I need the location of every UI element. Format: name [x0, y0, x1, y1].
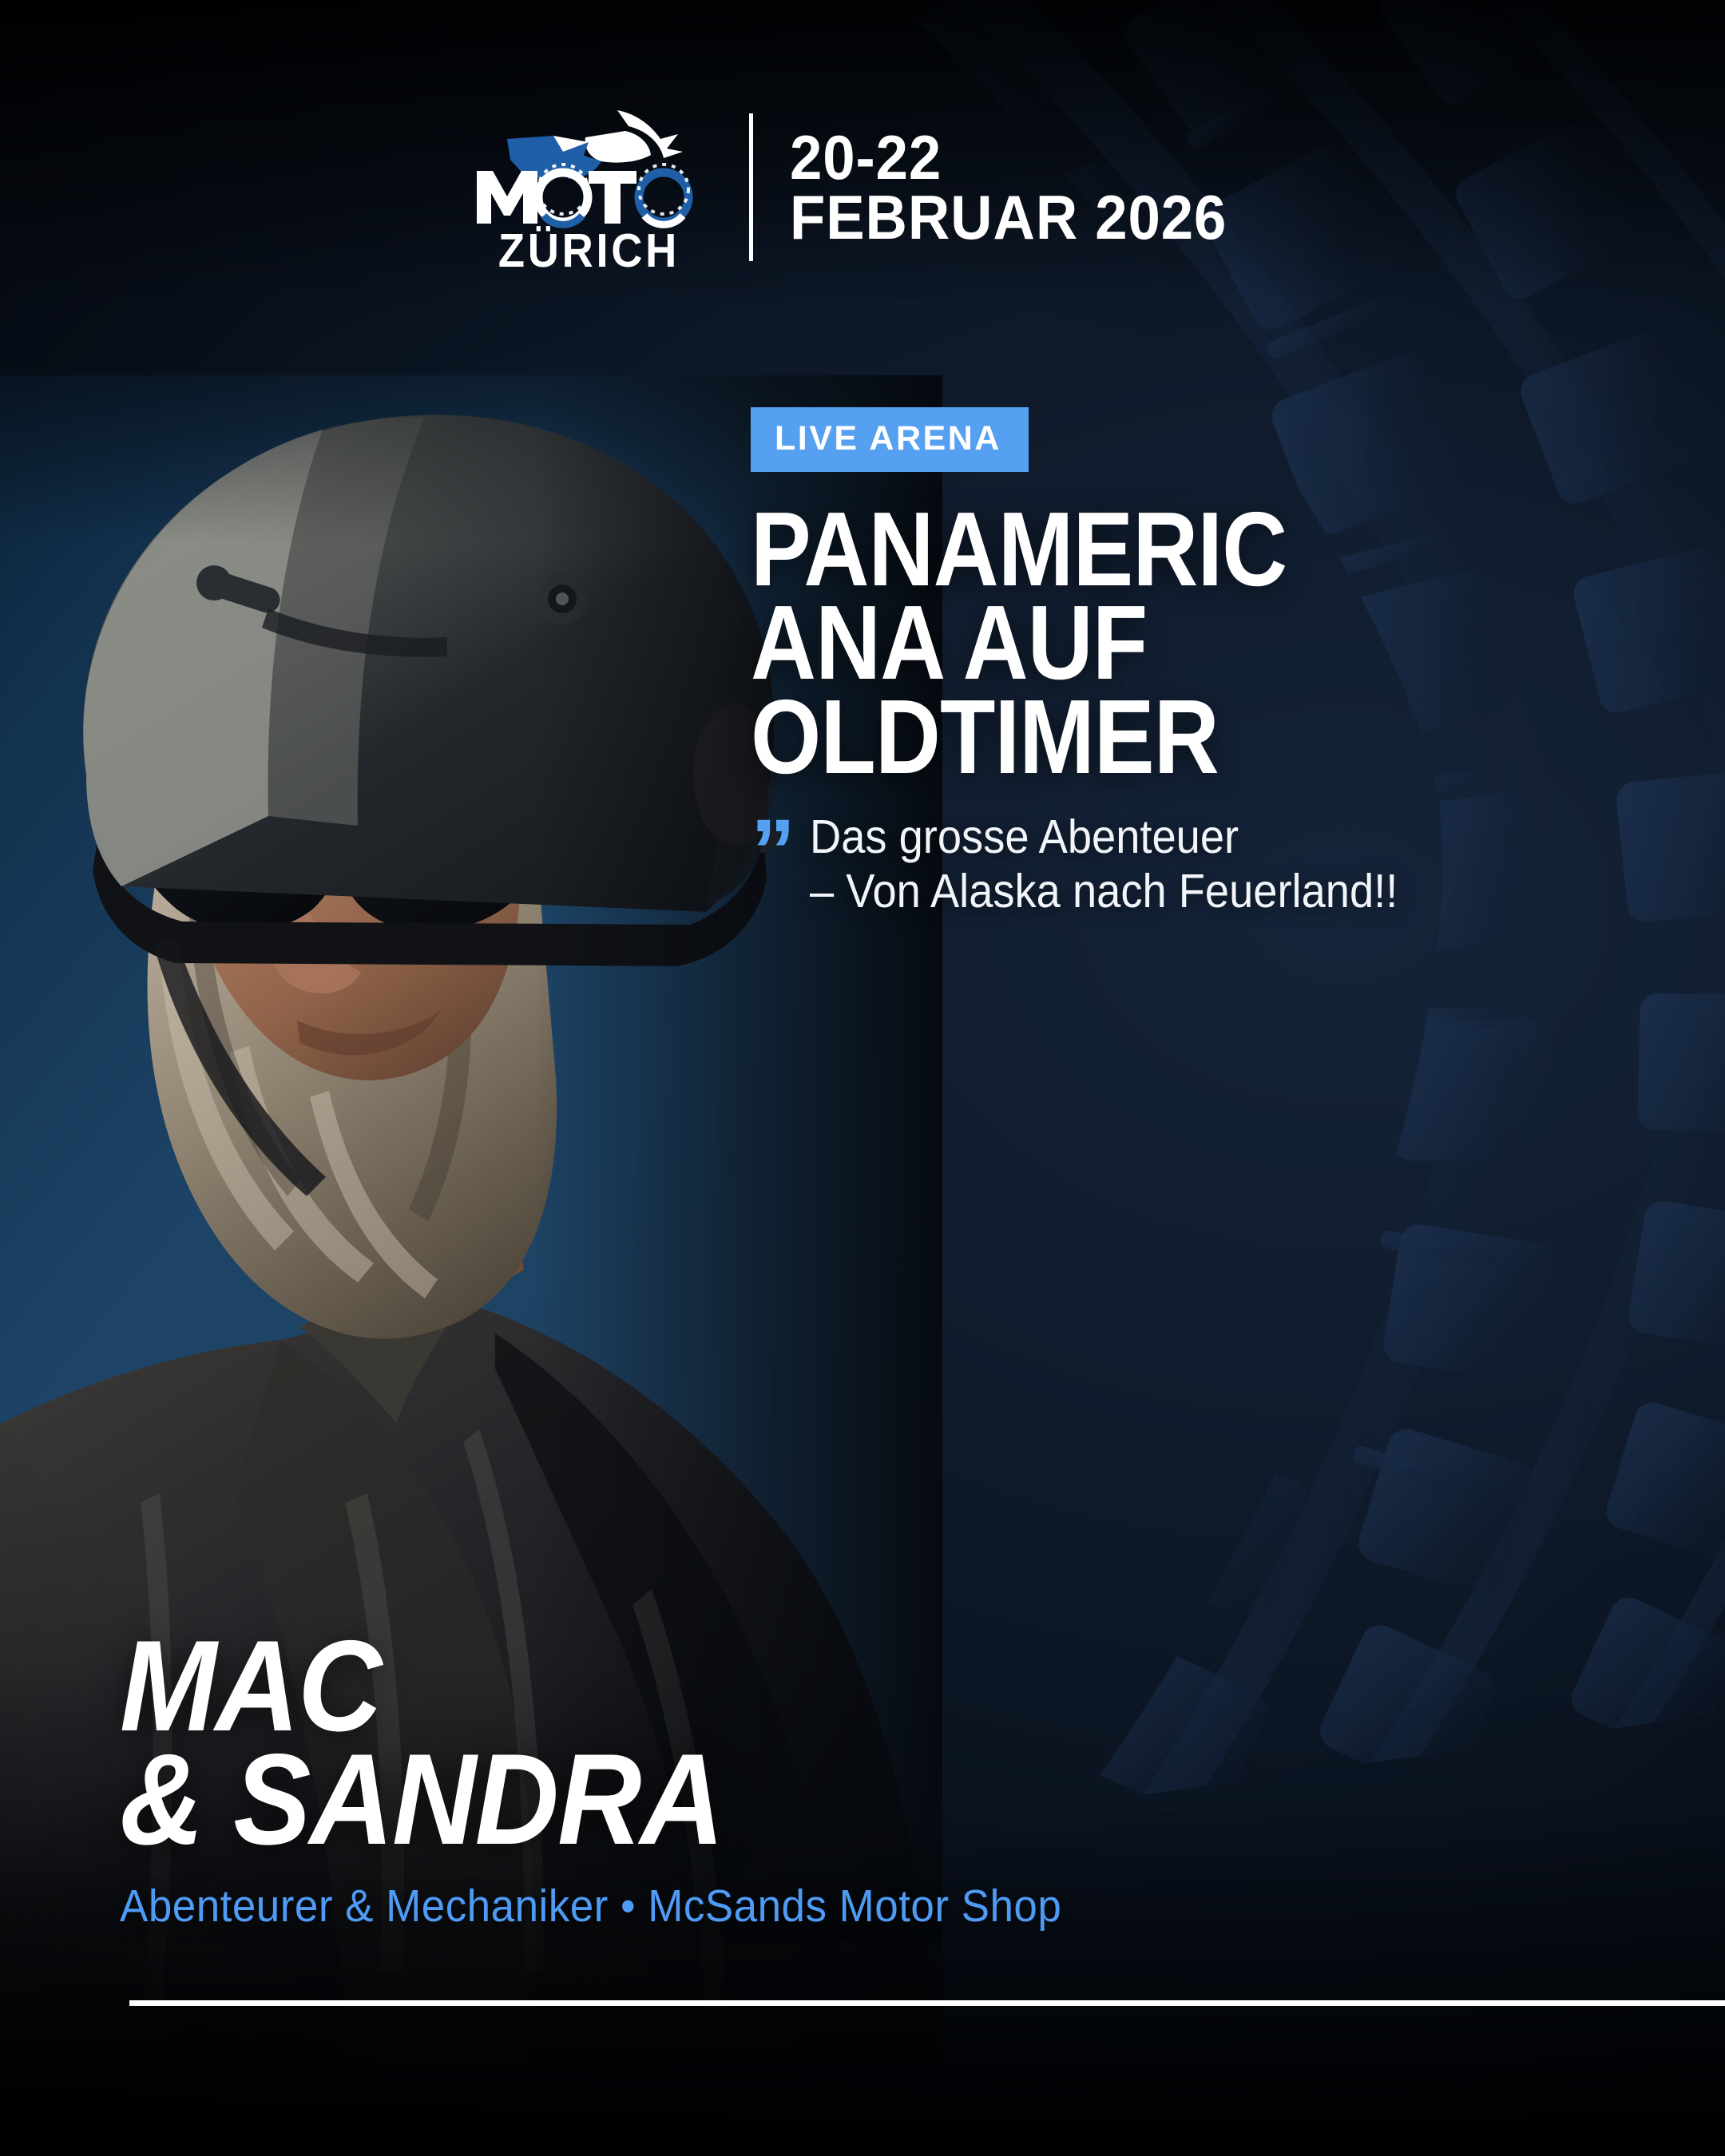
event-date-days: 20-22 [790, 128, 1227, 188]
logo-city-label: ZÜRICH [498, 229, 680, 272]
session-subtitle-group: ” Das grosse Abenteuer – Von Alaska nach… [751, 810, 1637, 918]
page-title: PANAMERIC ANA AUF OLDTIMER [751, 502, 1513, 783]
session-content: LIVE ARENA PANAMERIC ANA AUF OLDTIMER ” … [751, 407, 1637, 918]
header-divider [749, 113, 753, 261]
bottom-divider [129, 2000, 1725, 2006]
event-poster: ZÜRICH 20-22 FEBRUAR 2026 LIVE ARENA PAN… [0, 0, 1725, 2156]
speaker-name: MAC & SANDRA [120, 1630, 1342, 1857]
session-subtitle: Das grosse Abenteuer – Von Alaska nach F… [810, 810, 1398, 918]
speaker-role: Abenteurer & Mechaniker • McSands Motor … [120, 1880, 1382, 1932]
status-badge: LIVE ARENA [751, 407, 1029, 472]
speaker-block: MAC & SANDRA Abenteurer & Mechaniker • M… [120, 1630, 1477, 1932]
motorcycle-icon [469, 102, 708, 234]
event-date: 20-22 FEBRUAR 2026 [790, 128, 1260, 248]
poster-header: ZÜRICH 20-22 FEBRUAR 2026 [0, 102, 1725, 272]
moto-zurich-logo: ZÜRICH [465, 102, 712, 272]
event-date-month: FEBRUAR 2026 [790, 188, 1227, 248]
quote-icon: ” [751, 823, 795, 878]
